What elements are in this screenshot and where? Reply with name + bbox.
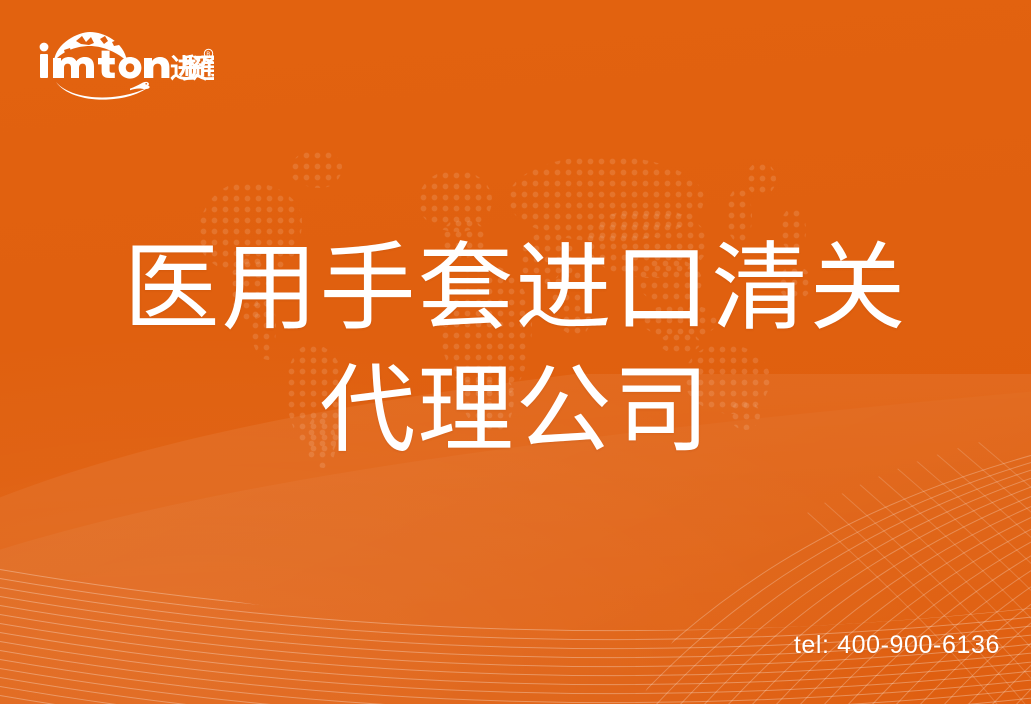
contact-phone[interactable]: tel: 400-900-6136 <box>794 631 1000 660</box>
headline-line-2: 代理公司 <box>0 350 1031 472</box>
headline-line-1: 医用手套进口清关 <box>0 228 1031 350</box>
svg-text:进贸通: 进贸通 <box>170 54 214 85</box>
map-dot-region-20 <box>746 162 776 196</box>
brand-chinese-text: 进贸通 <box>170 54 214 85</box>
svg-text:R: R <box>206 51 210 58</box>
brand-logo[interactable]: 进贸通 R <box>34 28 214 100</box>
dragon-swoosh-icon <box>56 82 150 100</box>
page-title: 医用手套进口清关 代理公司 <box>0 228 1031 472</box>
map-dot-region-3 <box>290 150 342 188</box>
promo-banner: 进贸通 R 医用手套进口清关 代理公司 tel: 400-900-6136 <box>0 0 1031 704</box>
